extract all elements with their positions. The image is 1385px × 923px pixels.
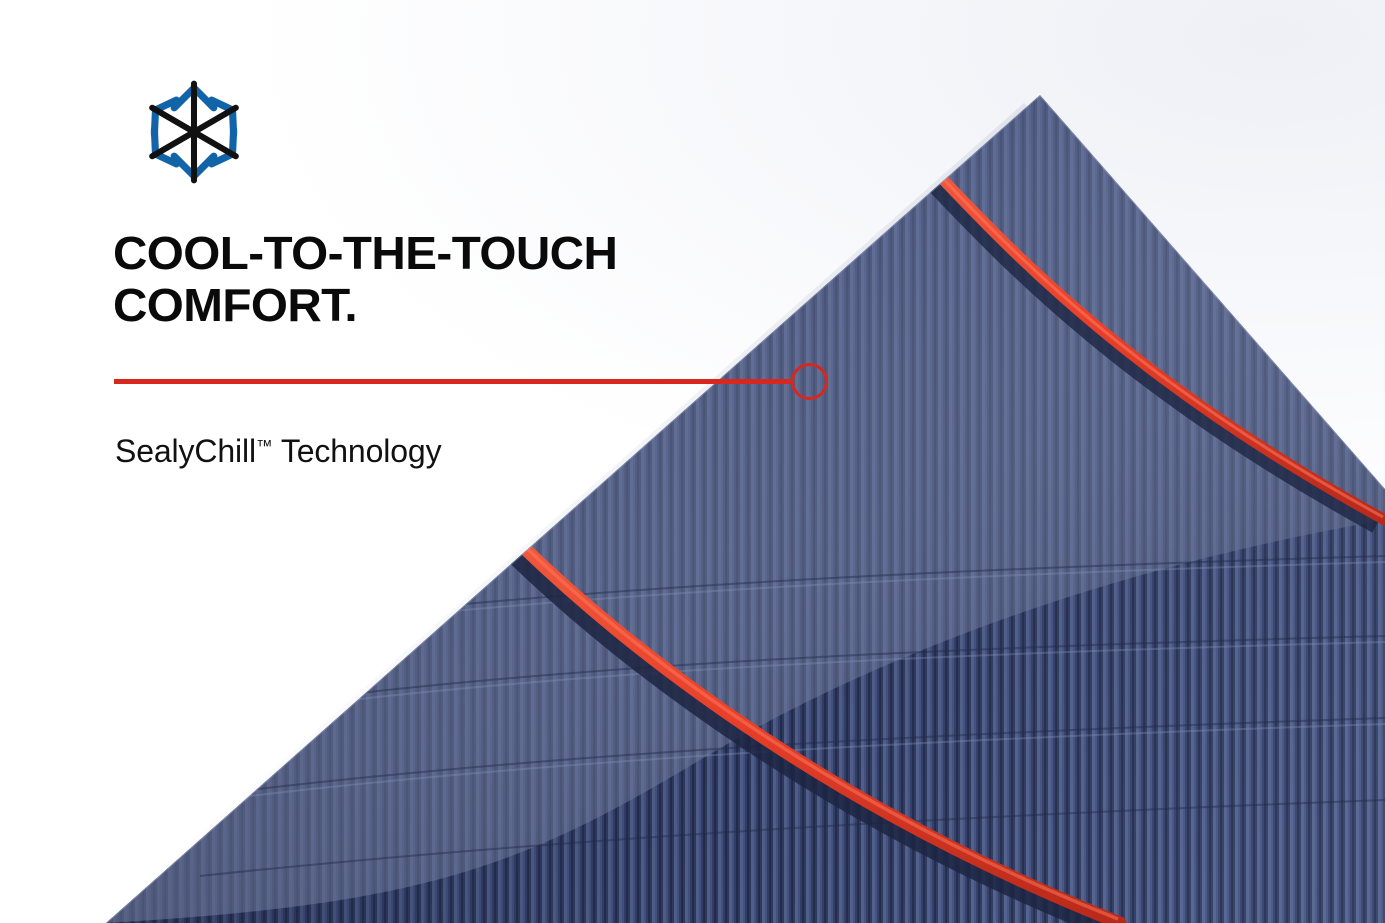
feature-name-text: SealyChill	[115, 433, 256, 469]
snowflake-icon	[128, 66, 260, 198]
trademark-symbol: ™	[256, 437, 273, 456]
headline-line-1: COOL-TO-THE-TOUCH	[113, 228, 734, 280]
feature-name-suffix: Technology	[273, 433, 442, 469]
promo-banner: COOL-TO-THE-TOUCH COMFORT. SealyChill™ T…	[0, 0, 1385, 923]
feature-name: SealyChill™ Technology	[115, 432, 441, 470]
snowflake-glyph	[128, 66, 260, 198]
headline-line-2: COMFORT.	[113, 280, 734, 332]
page-title: COOL-TO-THE-TOUCH COMFORT.	[113, 228, 734, 331]
copy-column: COOL-TO-THE-TOUCH COMFORT. SealyChill™ T…	[113, 0, 733, 923]
